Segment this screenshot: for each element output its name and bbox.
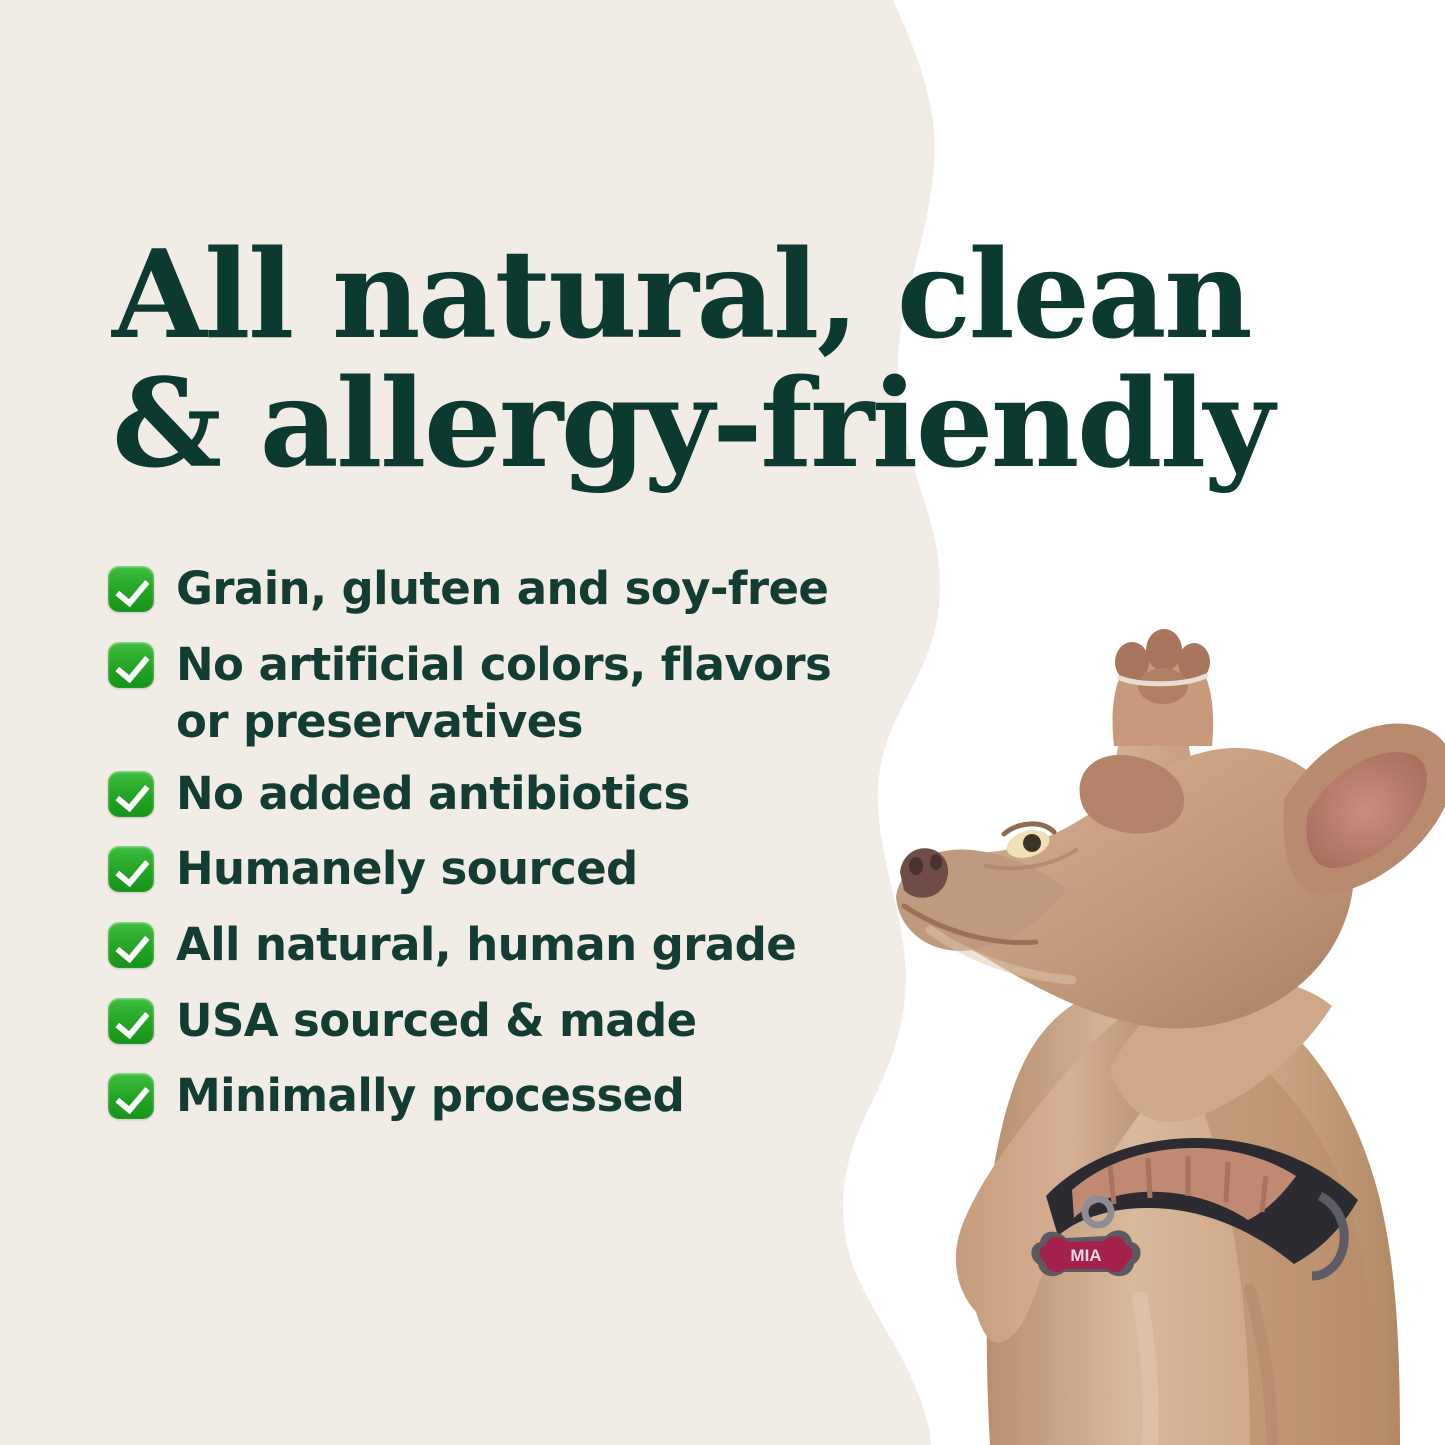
feature-label: All natural, human grade — [176, 916, 796, 974]
feature-label: No artificial colors, flavors or preserv… — [176, 636, 876, 751]
feature-label: Humanely sourced — [176, 840, 638, 898]
feature-label: Minimally processed — [176, 1067, 684, 1125]
check-mark-button-icon — [108, 846, 154, 892]
feature-label: USA sourced & made — [176, 992, 697, 1050]
check-mark-button-icon — [108, 922, 154, 968]
promo-banner: All natural, clean & allergy-friendly Gr… — [0, 0, 1445, 1445]
check-mark-button-icon — [108, 642, 154, 688]
feature-label: No added antibiotics — [176, 765, 690, 823]
nostril — [909, 857, 923, 875]
nostril — [930, 854, 942, 870]
page-headline: All natural, clean & allergy-friendly — [112, 230, 1292, 489]
paw-pad — [1146, 629, 1182, 671]
dog-illustration: MIA — [780, 600, 1445, 1445]
feature-label: Grain, gluten and soy-free — [176, 560, 828, 618]
check-mark-button-icon — [108, 1073, 154, 1119]
dog-pupil — [1023, 834, 1041, 852]
check-mark-button-icon — [108, 566, 154, 612]
check-mark-button-icon — [108, 998, 154, 1044]
tag-text: MIA — [1070, 1246, 1101, 1265]
dog-photo: MIA — [780, 600, 1445, 1445]
check-mark-button-icon — [108, 771, 154, 817]
